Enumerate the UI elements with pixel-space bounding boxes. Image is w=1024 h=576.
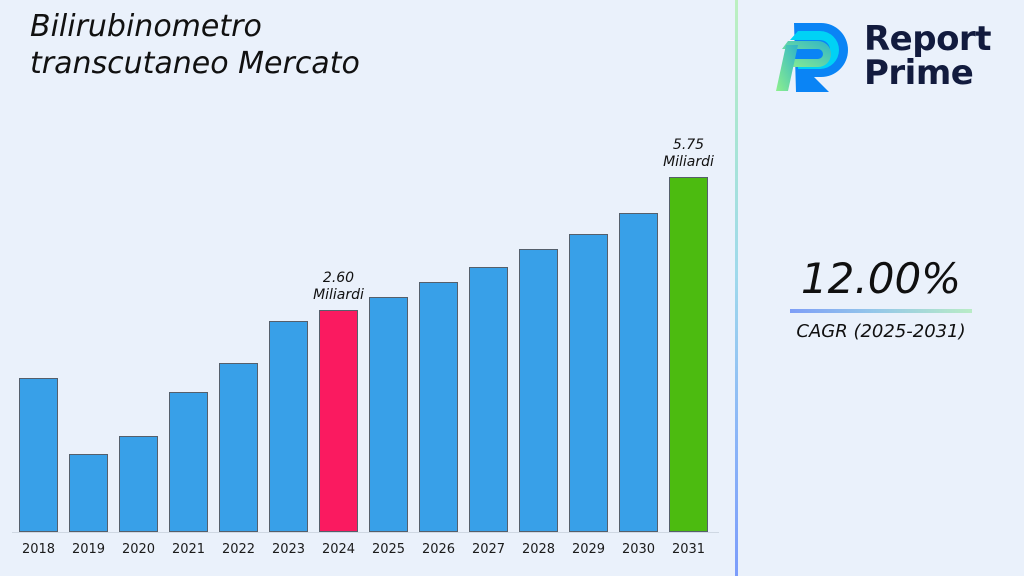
x-tick-2024: 2024 (319, 542, 358, 557)
x-tick-2025: 2025 (369, 542, 408, 557)
side-panel: Report Prime 12.00% CAGR (2025-2031) (738, 0, 1024, 576)
bar-value-label-2031: 5.75 Miliardi (634, 137, 744, 171)
bar-group-2023 (269, 321, 308, 532)
bar-group-2026 (419, 282, 458, 532)
bar-2025[interactable] (369, 297, 408, 532)
x-tick-2027: 2027 (469, 542, 508, 557)
brand-name: Report Prime (864, 22, 991, 90)
bar-2021[interactable] (169, 392, 208, 532)
bar-2019[interactable] (69, 454, 108, 532)
chart-panel: Bilirubinometro transcutaneo Mercato 201… (0, 0, 735, 576)
bar-group-2020 (119, 436, 158, 532)
bar-2020[interactable] (119, 436, 158, 532)
bar-2023[interactable] (269, 321, 308, 532)
x-tick-2031: 2031 (669, 542, 708, 557)
cagr-label: CAGR (2025-2031) (738, 321, 1024, 343)
bar-2028[interactable] (519, 249, 558, 532)
bar-group-2029 (569, 234, 608, 532)
x-tick-2021: 2021 (169, 542, 208, 557)
bar-2027[interactable] (469, 267, 508, 532)
report-prime-logo: Report Prime (774, 14, 1004, 98)
bar-group-2027 (469, 267, 508, 532)
bar-group-2025 (369, 297, 408, 532)
x-tick-2030: 2030 (619, 542, 658, 557)
x-tick-2020: 2020 (119, 542, 158, 557)
x-axis-line (12, 532, 719, 533)
cagr-value: 12.00% (738, 255, 1024, 303)
x-tick-2026: 2026 (419, 542, 458, 557)
cagr-divider (790, 309, 972, 313)
bar-group-2019 (69, 454, 108, 532)
bar-group-2028 (519, 249, 558, 532)
bar-group-2024: 2.60 Miliardi (319, 310, 358, 532)
x-tick-2023: 2023 (269, 542, 308, 557)
bar-group-2022 (219, 363, 258, 532)
bar-2022[interactable] (219, 363, 258, 532)
bar-group-2018 (19, 378, 58, 532)
bar-2026[interactable] (419, 282, 458, 532)
report-prime-logo-icon (774, 19, 852, 93)
bar-group-2030 (619, 213, 658, 532)
x-tick-2029: 2029 (569, 542, 608, 557)
bar-2031[interactable] (669, 177, 708, 532)
bar-2018[interactable] (19, 378, 58, 532)
bar-group-2021 (169, 392, 208, 532)
bar-2030[interactable] (619, 213, 658, 532)
x-tick-2022: 2022 (219, 542, 258, 557)
x-tick-2018: 2018 (19, 542, 58, 557)
x-tick-2019: 2019 (69, 542, 108, 557)
cagr-block: 12.00% CAGR (2025-2031) (738, 255, 1024, 343)
x-tick-2028: 2028 (519, 542, 558, 557)
slide-root: Bilirubinometro transcutaneo Mercato 201… (0, 0, 1024, 576)
bar-group-2031: 5.75 Miliardi (669, 177, 708, 532)
bar-2024[interactable] (319, 310, 358, 532)
bar-2029[interactable] (569, 234, 608, 532)
bar-chart-plot: 2018201920202021202220232.60 Miliardi202… (0, 0, 735, 576)
